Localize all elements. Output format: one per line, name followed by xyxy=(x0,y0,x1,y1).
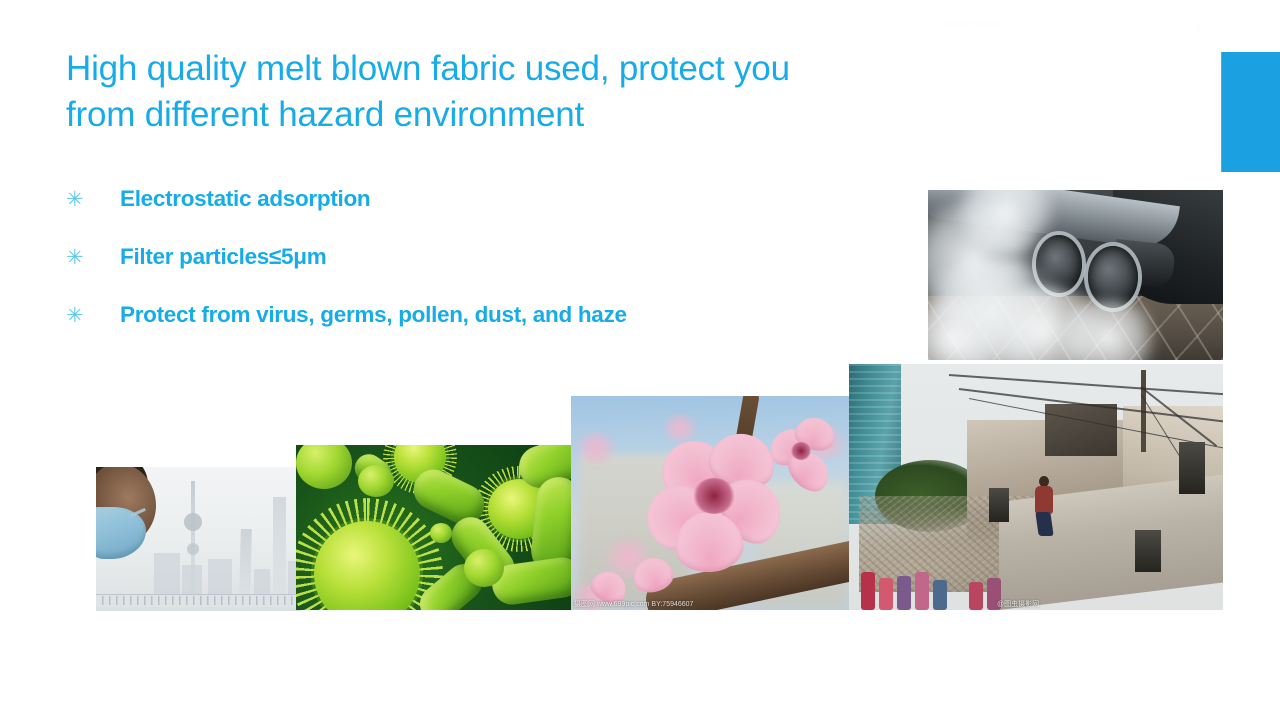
hanging-laundry xyxy=(861,572,875,610)
hanging-laundry xyxy=(933,580,947,610)
haze-scene xyxy=(96,467,301,611)
bullet-label: Protect from virus, germs, pollen, dust,… xyxy=(120,302,627,328)
flower-stamen xyxy=(693,478,735,514)
building-doorway xyxy=(989,488,1009,522)
presentation-slide: powerpoint x High quality melt blown fab… xyxy=(0,0,1280,720)
faint-watermark-right: x xyxy=(1195,18,1203,33)
hanging-laundry xyxy=(879,578,893,610)
bokeh-blossom xyxy=(663,414,697,442)
blossom-scene: 摄图网 www.699pic.com BY:75946607 xyxy=(571,396,850,610)
photo-peach-blossom: 摄图网 www.699pic.com BY:75946607 xyxy=(571,396,850,610)
pearl-tower-sphere-lower xyxy=(187,543,199,555)
bullet-label: Electrostatic adsorption xyxy=(120,186,370,212)
hanging-laundry xyxy=(915,572,929,610)
pearl-tower-sphere-upper xyxy=(184,513,202,531)
photo-haze-masked-man xyxy=(96,467,301,611)
image-watermark: 摄图网 www.699pic.com BY:75946607 xyxy=(574,599,693,609)
photo-car-exhaust-smoke xyxy=(928,190,1223,360)
hanging-laundry xyxy=(969,582,983,610)
skyscraper-twisted xyxy=(273,497,286,597)
bullet-item-protect-from-hazards: ✳ Protect from virus, germs, pollen, dus… xyxy=(66,302,926,360)
bullet-item-filter-particles: ✳ Filter particles≤5μm xyxy=(66,244,926,302)
slide-title: High quality melt blown fabric used, pro… xyxy=(66,46,1026,138)
building-doorway xyxy=(1179,442,1205,494)
round-microbe xyxy=(358,465,394,497)
round-microbe xyxy=(464,549,504,587)
rubble-scene: @图虫摄影网 xyxy=(849,364,1223,610)
skyline-block xyxy=(182,565,202,595)
waterfront-bridge xyxy=(96,594,301,607)
image-watermark: @图虫摄影网 xyxy=(997,599,1039,609)
wall-window xyxy=(1135,530,1161,572)
damaged-building-dark-section xyxy=(1045,404,1117,456)
bullet-list: ✳ Electrostatic adsorption ✳ Filter part… xyxy=(66,186,926,360)
bullet-item-electrostatic-adsorption: ✳ Electrostatic adsorption xyxy=(66,186,926,244)
asterisk-bullet-icon: ✳ xyxy=(66,189,120,210)
exhaust-scene xyxy=(928,190,1223,360)
skyline-block xyxy=(208,559,232,595)
germs-scene xyxy=(296,445,576,610)
hanging-laundry xyxy=(897,576,911,610)
accent-bar-decoration xyxy=(1221,52,1280,172)
asterisk-bullet-icon: ✳ xyxy=(66,247,120,268)
photo-germs-bacteria xyxy=(296,445,576,610)
round-microbe xyxy=(430,523,452,543)
asterisk-bullet-icon: ✳ xyxy=(66,305,120,326)
flower-stamen xyxy=(791,442,811,460)
skyline-block xyxy=(254,569,270,595)
skyscraper-tall xyxy=(239,529,252,597)
faint-watermark-left: powerpoint xyxy=(940,18,1004,30)
bullet-label: Filter particles≤5μm xyxy=(120,244,326,270)
person-legs xyxy=(1035,512,1053,536)
skyline-block xyxy=(154,553,180,595)
photo-demolition-rubble: @图虫摄影网 xyxy=(849,364,1223,610)
spiky-virus xyxy=(314,521,420,610)
person-on-rubble xyxy=(1033,476,1057,536)
person-torso xyxy=(1035,486,1053,514)
bokeh-blossom xyxy=(577,432,615,464)
